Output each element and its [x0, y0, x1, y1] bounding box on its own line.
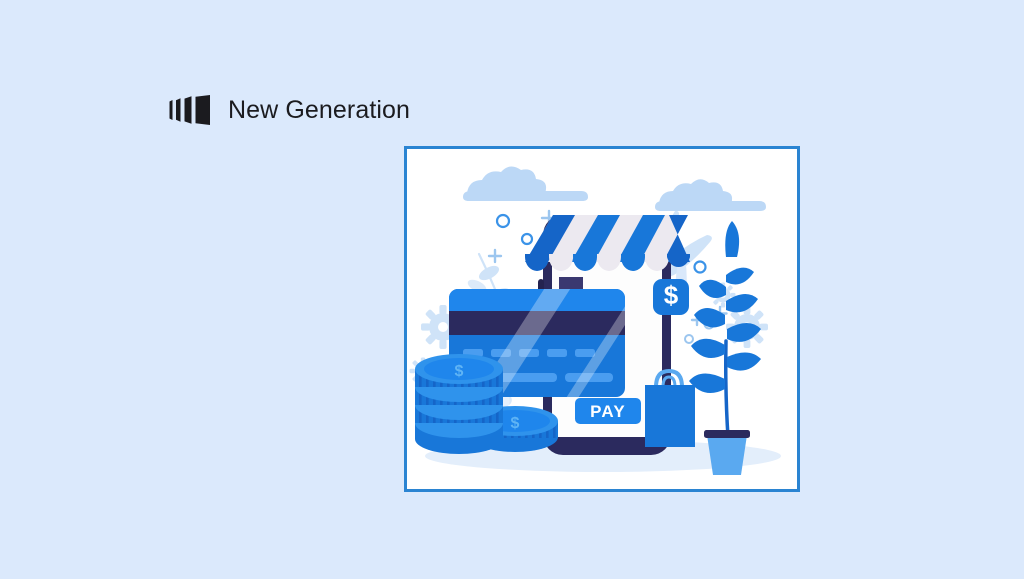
potted-plant — [689, 221, 761, 475]
dollar-badge-label: $ — [664, 280, 679, 310]
four-bars-perspective-logo-icon — [168, 95, 212, 125]
page-root: New Generation — [0, 0, 1024, 579]
pay-button[interactable]: PAY — [575, 398, 641, 424]
coin-dollar-label: $ — [455, 363, 464, 380]
coin-dollar-label: $ — [511, 415, 520, 432]
page-title: New Generation — [228, 96, 410, 125]
pay-button-label: PAY — [590, 402, 626, 421]
cloud-decorations — [463, 166, 766, 211]
brand-lockup: New Generation — [168, 95, 410, 125]
illustration-panel: $ PAY — [404, 146, 800, 492]
coin-stack-left: $ — [415, 354, 503, 454]
dollar-badge: $ — [653, 279, 689, 315]
